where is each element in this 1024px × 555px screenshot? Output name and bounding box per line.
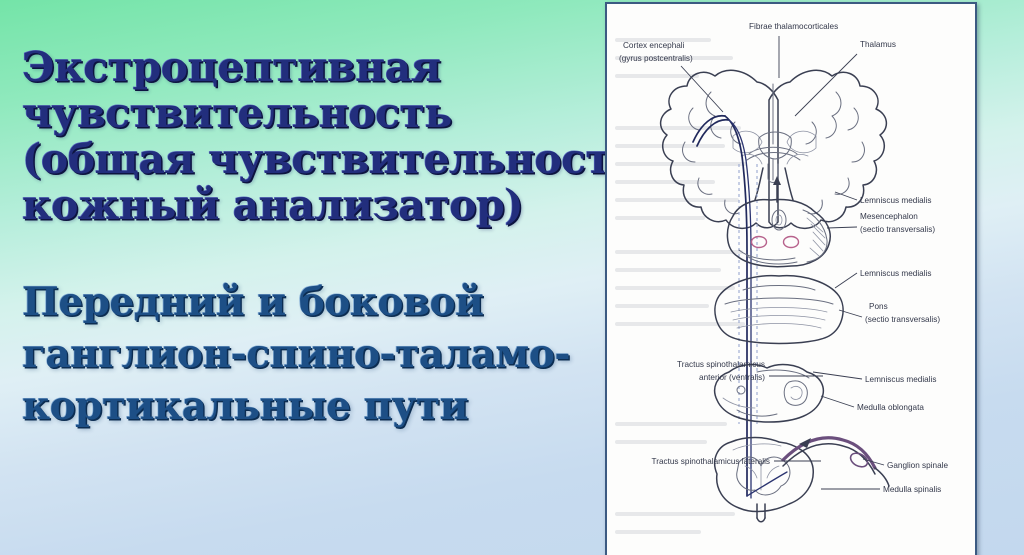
figure-labels: Cortex encephali (gyrus postcentralis) F… — [619, 22, 948, 494]
mesencephalon-cross-section — [727, 200, 830, 267]
title-line-2: чувствительность — [22, 90, 582, 136]
title-line-1: Экстроцептивная — [22, 44, 582, 90]
label-lemniscus-medialis-3: Lemniscus medialis — [865, 375, 936, 384]
anatomy-figure-panel: .out { fill:none; stroke:#3a3f52; stroke… — [605, 2, 977, 555]
label-thalamus: Thalamus — [860, 40, 896, 49]
title-line-3: (общая чувствительность, — [22, 136, 582, 182]
text-column: Экстроцептивная чувствительность (общая … — [0, 0, 600, 555]
title-line-4: кожный анализатор) — [22, 182, 582, 228]
subtitle-line-1: Передний и боковой — [22, 276, 582, 328]
ascending-sensory-tract — [693, 116, 757, 498]
label-lemniscus-medialis-1: Lemniscus medialis — [860, 196, 931, 205]
label-medulla-spinalis: Medulla spinalis — [883, 485, 941, 494]
subtitle-line-2: ганглион-спино-таламо- — [22, 328, 582, 380]
label-pons: Pons — [869, 302, 888, 311]
label-gyrus-postcentralis: (gyrus postcentralis) — [619, 54, 693, 63]
label-ganglion-spinale: Ganglion spinale — [887, 461, 948, 470]
label-fibrae-thalamocorticales: Fibrae thalamocorticales — [749, 22, 838, 31]
slide-canvas: Экстроцептивная чувствительность (общая … — [0, 0, 1024, 555]
label-medulla-oblongata: Medulla oblongata — [857, 403, 924, 412]
label-mesencephalon-sectio: (sectio transversalis) — [860, 225, 935, 234]
page-subtitle: Передний и боковой ганглион-спино-таламо… — [22, 276, 582, 432]
label-pons-sectio: (sectio transversalis) — [865, 315, 940, 324]
label-tractus-spinothalamicus-ant-2: anterior (ventralis) — [699, 373, 765, 382]
cerebral-hemispheres-coronal-section — [661, 70, 887, 228]
label-cortex-encephali: Cortex encephali — [623, 41, 685, 50]
anatomy-diagram: .out { fill:none; stroke:#3a3f52; stroke… — [607, 4, 971, 555]
medulla-spinalis-cross-section — [715, 438, 814, 522]
label-mesencephalon: Mesencephalon — [860, 212, 918, 221]
label-tractus-spinothalamicus-ant-1: Tractus spinothalamicus — [677, 360, 765, 369]
subtitle-line-3: кортикальные пути — [22, 380, 582, 432]
page-title: Экстроцептивная чувствительность (общая … — [22, 44, 582, 228]
ascending-tract-arrow — [773, 176, 781, 202]
label-lemniscus-medialis-2: Lemniscus medialis — [860, 269, 931, 278]
label-tractus-spinothalamicus-lat: Tractus spinothalamicus lateralis — [652, 457, 770, 466]
pons-cross-section — [715, 276, 843, 344]
